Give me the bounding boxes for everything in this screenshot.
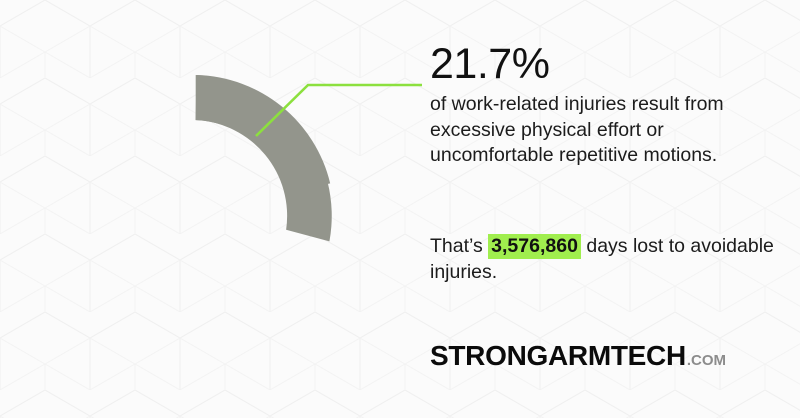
infographic-canvas: 21.7% of work-related injuries result fr… — [0, 0, 800, 418]
content-panel: 21.7% of work-related injuries result fr… — [430, 42, 780, 169]
days-lost-value: 3,576,860 — [488, 234, 581, 259]
brand-name: STRONGARMTECH — [430, 341, 686, 371]
brand-logo[interactable]: STRONGARMTECH.COM — [430, 341, 726, 376]
leader-line-path — [256, 85, 422, 136]
stat-percent-value: 21.7% — [430, 42, 780, 86]
days-lost-statement: That’s 3,576,860 days lost to avoidable … — [430, 234, 780, 285]
brand-tld: .COM — [687, 346, 726, 376]
stat-description: of work-related injuries result from exc… — [430, 92, 760, 169]
days-lost-prefix: That’s — [430, 235, 488, 257]
leader-line — [240, 70, 440, 160]
